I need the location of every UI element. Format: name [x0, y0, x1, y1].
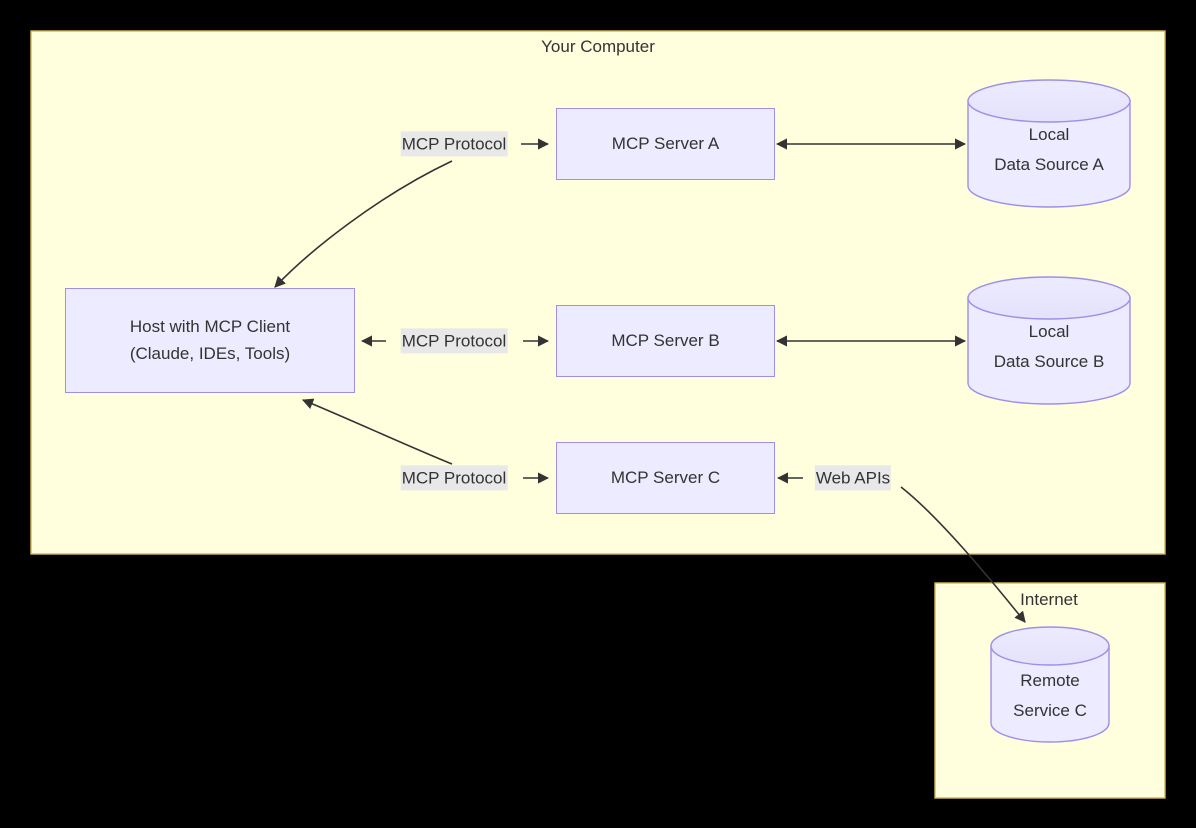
node-mcp-server-a[interactable]: MCP Server A — [556, 108, 775, 180]
edge-label-host-server-a: MCP Protocol — [401, 131, 508, 156]
node-data-source-a[interactable] — [968, 80, 1130, 207]
node-host-with-mcp-client[interactable]: Host with MCP Client (Claude, IDEs, Tool… — [65, 288, 355, 393]
node-host-line-1: Host with MCP Client — [130, 314, 290, 340]
node-remote-service-c[interactable] — [991, 627, 1109, 742]
edge-label-host-server-b: MCP Protocol — [401, 328, 508, 353]
node-server-a-label: MCP Server A — [612, 131, 719, 157]
node-data-source-b[interactable] — [968, 277, 1130, 404]
cluster-title-internet: Internet — [1020, 590, 1078, 610]
edge-label-host-server-c: MCP Protocol — [401, 465, 508, 490]
edge-label-server-c-remote-c: Web APIs — [815, 465, 891, 490]
node-server-c-label: MCP Server C — [611, 465, 720, 491]
node-mcp-server-b[interactable]: MCP Server B — [556, 305, 775, 377]
node-host-line-2: (Claude, IDEs, Tools) — [130, 341, 290, 367]
diagram-canvas: Your Computer Internet Host with MCP Cli… — [0, 0, 1196, 828]
node-server-b-label: MCP Server B — [611, 328, 719, 354]
cluster-title-your-computer: Your Computer — [541, 37, 655, 57]
node-mcp-server-c[interactable]: MCP Server C — [556, 442, 775, 514]
